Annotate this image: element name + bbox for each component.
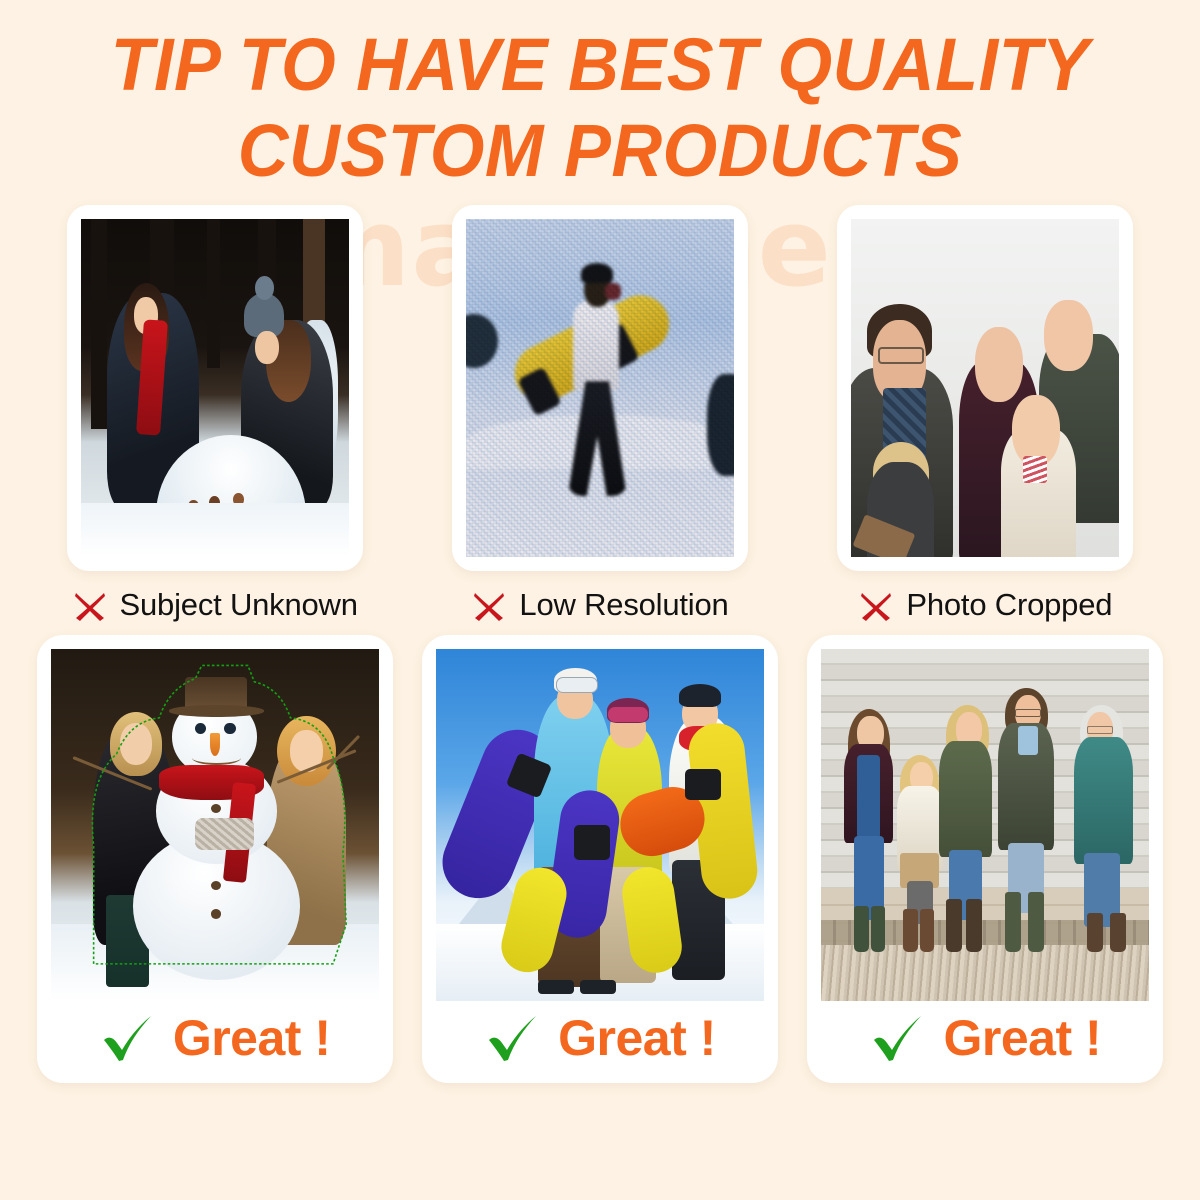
photo-pixelated-snowboarder	[466, 219, 734, 557]
example-cell-photo-cropped: Photo Cropped	[793, 205, 1178, 623]
label-great-snowboarders: Great !	[436, 1001, 764, 1077]
page-title: TIP TO HAVE BEST QUALITY CUSTOM PRODUCTS	[30, 22, 1170, 194]
label-text: Great !	[173, 1009, 331, 1067]
label-text: Photo Cropped	[906, 587, 1112, 623]
photo-card-great-family[interactable]: Great !	[807, 635, 1163, 1083]
green-check-icon	[869, 1010, 925, 1066]
label-low-resolution: Low Resolution	[471, 587, 728, 623]
example-cell-great-snowman: Great !	[22, 635, 407, 1083]
photo-family-of-five-by-barn	[821, 649, 1149, 1001]
label-text: Subject Unknown	[120, 587, 358, 623]
photo-cropped-family-portrait	[851, 219, 1119, 557]
label-great-snowman: Great !	[51, 1001, 379, 1077]
label-great-family: Great !	[821, 1001, 1149, 1077]
photo-two-women-building-snowman-in-forest	[81, 219, 349, 557]
green-check-icon	[99, 1010, 155, 1066]
photo-card-low-resolution[interactable]	[452, 205, 748, 571]
green-check-icon	[484, 1010, 540, 1066]
label-text: Great !	[943, 1009, 1101, 1067]
photo-card-photo-cropped[interactable]	[837, 205, 1133, 571]
red-x-icon	[858, 587, 894, 623]
page-title-line-1: TIP TO HAVE BEST QUALITY	[111, 23, 1090, 106]
label-photo-cropped: Photo Cropped	[858, 587, 1112, 623]
red-x-icon	[72, 587, 108, 623]
green-dashed-cutout-outline	[51, 649, 379, 977]
label-subject-unknown: Subject Unknown	[72, 587, 358, 623]
photo-two-women-with-snowman-outlined	[51, 649, 379, 1001]
examples-grid: Subject Unknown	[0, 205, 1200, 1083]
photo-card-subject-unknown[interactable]	[67, 205, 363, 571]
photo-card-great-snowman[interactable]: Great !	[37, 635, 393, 1083]
example-cell-great-family: Great !	[793, 635, 1178, 1083]
example-cell-low-resolution: Low Resolution	[407, 205, 792, 623]
label-text: Low Resolution	[519, 587, 728, 623]
red-x-icon	[471, 587, 507, 623]
example-cell-great-snowboarders: Great !	[407, 635, 792, 1083]
example-cell-subject-unknown: Subject Unknown	[22, 205, 407, 623]
photo-card-great-snowboarders[interactable]: Great !	[422, 635, 778, 1083]
photo-three-snowboarders-on-slope	[436, 649, 764, 1001]
label-text: Great !	[558, 1009, 716, 1067]
page-title-line-2: CUSTOM PRODUCTS	[30, 108, 1170, 194]
tip-infographic-page: macorner TIP TO HAVE BEST QUALITY CUSTOM…	[0, 0, 1200, 1200]
